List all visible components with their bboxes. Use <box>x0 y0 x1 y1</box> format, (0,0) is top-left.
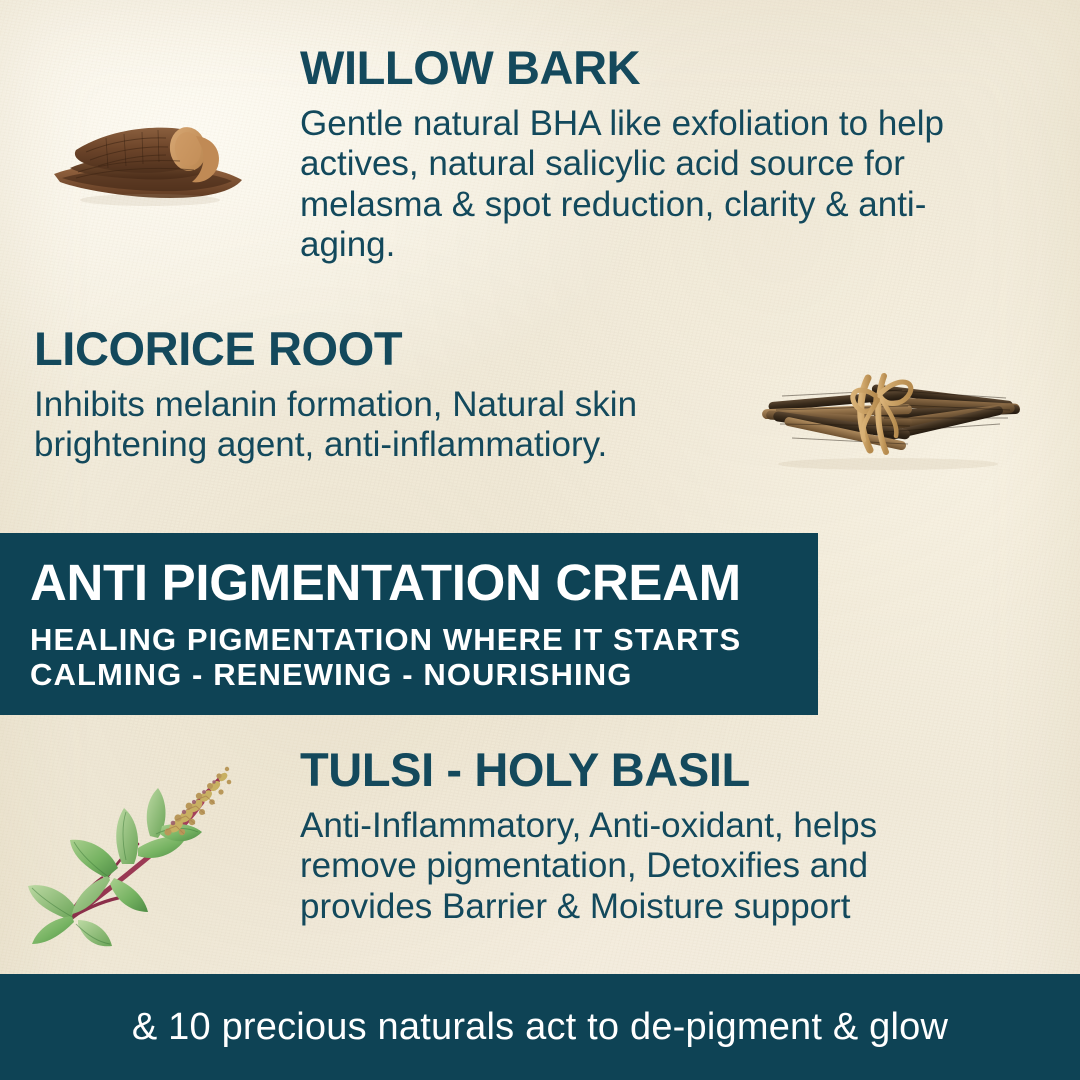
licorice-root-heading: LICORICE ROOT <box>34 325 637 372</box>
licorice-root-bundle-illustration <box>752 366 1024 474</box>
willow-bark-body-line: actives, natural salicylic acid source f… <box>300 144 944 184</box>
tulsi-body-line: remove pigmentation, Detoxifies and <box>300 846 877 886</box>
section-tulsi-holy-basil: TULSI - HOLY BASIL Anti-Inflammatory, An… <box>300 746 877 927</box>
willow-bark-body-line: aging. <box>300 225 944 265</box>
product-banner: ANTI PIGMENTATION CREAM HEALING PIGMENTA… <box>0 533 818 715</box>
tulsi-holy-basil-illustration <box>26 752 258 948</box>
product-tagline-secondary: CALMING - RENEWING - NOURISHING <box>30 657 818 692</box>
poster-canvas: WILLOW BARK Gentle natural BHA like exfo… <box>0 0 1080 1080</box>
footer-banner: & 10 precious naturals act to de-pigment… <box>0 974 1080 1080</box>
tulsi-body: Anti-Inflammatory, Anti-oxidant, helps r… <box>300 806 877 927</box>
tulsi-body-line: Anti-Inflammatory, Anti-oxidant, helps <box>300 806 877 846</box>
tulsi-heading: TULSI - HOLY BASIL <box>300 746 877 793</box>
product-title: ANTI PIGMENTATION CREAM <box>30 557 818 608</box>
licorice-root-body-line: brightening agent, anti-inflammatiory. <box>34 425 637 465</box>
willow-bark-body-line: melasma & spot reduction, clarity & anti… <box>300 185 944 225</box>
willow-bark-body-line: Gentle natural BHA like exfoliation to h… <box>300 104 944 144</box>
willow-bark-illustration <box>46 108 256 208</box>
willow-bark-heading: WILLOW BARK <box>300 44 944 91</box>
footer-text: & 10 precious naturals act to de-pigment… <box>132 1006 948 1049</box>
willow-bark-body: Gentle natural BHA like exfoliation to h… <box>300 104 944 266</box>
tulsi-body-line: provides Barrier & Moisture support <box>300 887 877 927</box>
licorice-root-body: Inhibits melanin formation, Natural skin… <box>34 385 637 466</box>
licorice-root-body-line: Inhibits melanin formation, Natural skin <box>34 385 637 425</box>
section-willow-bark: WILLOW BARK Gentle natural BHA like exfo… <box>300 44 944 266</box>
section-licorice-root: LICORICE ROOT Inhibits melanin formation… <box>34 325 637 466</box>
product-tagline-primary: HEALING PIGMENTATION WHERE IT STARTS <box>30 622 818 657</box>
